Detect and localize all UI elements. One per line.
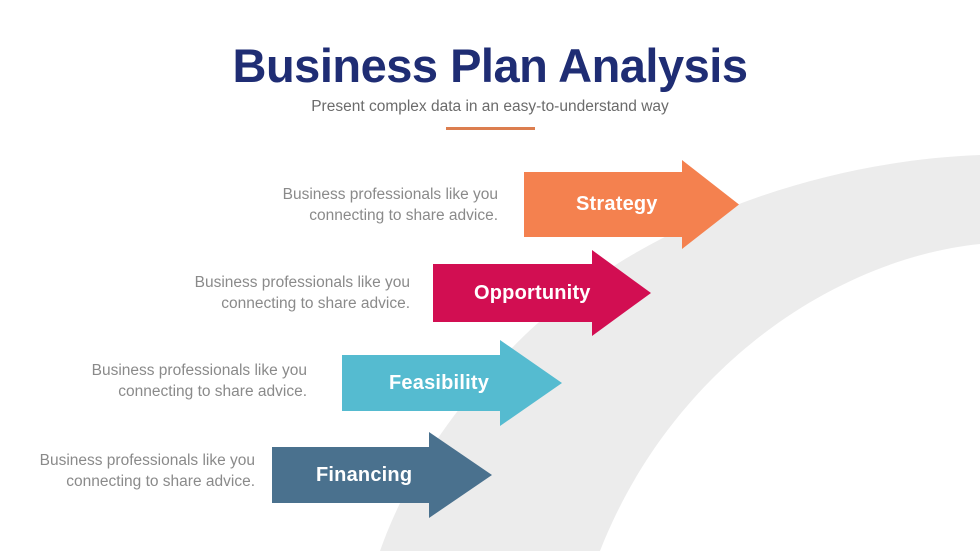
step-arrow-feasibility[interactable]: Feasibility (342, 340, 562, 426)
step-arrow-financing[interactable]: Financing (272, 432, 492, 518)
page-subtitle: Present complex data in an easy-to-under… (0, 98, 980, 116)
step-description-strategy: Business professionals like you connecti… (266, 184, 498, 227)
arrow-shape-financing (272, 432, 492, 518)
step-arrow-strategy[interactable]: Strategy (524, 160, 739, 249)
title-divider (446, 127, 535, 130)
arrow-shape-opportunity (433, 250, 651, 336)
step-description-feasibility: Business professionals like you connecti… (75, 360, 307, 403)
slide-canvas: Business Plan Analysis Present complex d… (0, 0, 980, 551)
step-description-financing: Business professionals like you connecti… (23, 450, 255, 493)
step-description-opportunity: Business professionals like you connecti… (178, 272, 410, 315)
step-arrow-opportunity[interactable]: Opportunity (433, 250, 651, 336)
arrow-shape-feasibility (342, 340, 562, 426)
page-title: Business Plan Analysis (0, 38, 980, 93)
arrow-shape-strategy (524, 160, 739, 249)
